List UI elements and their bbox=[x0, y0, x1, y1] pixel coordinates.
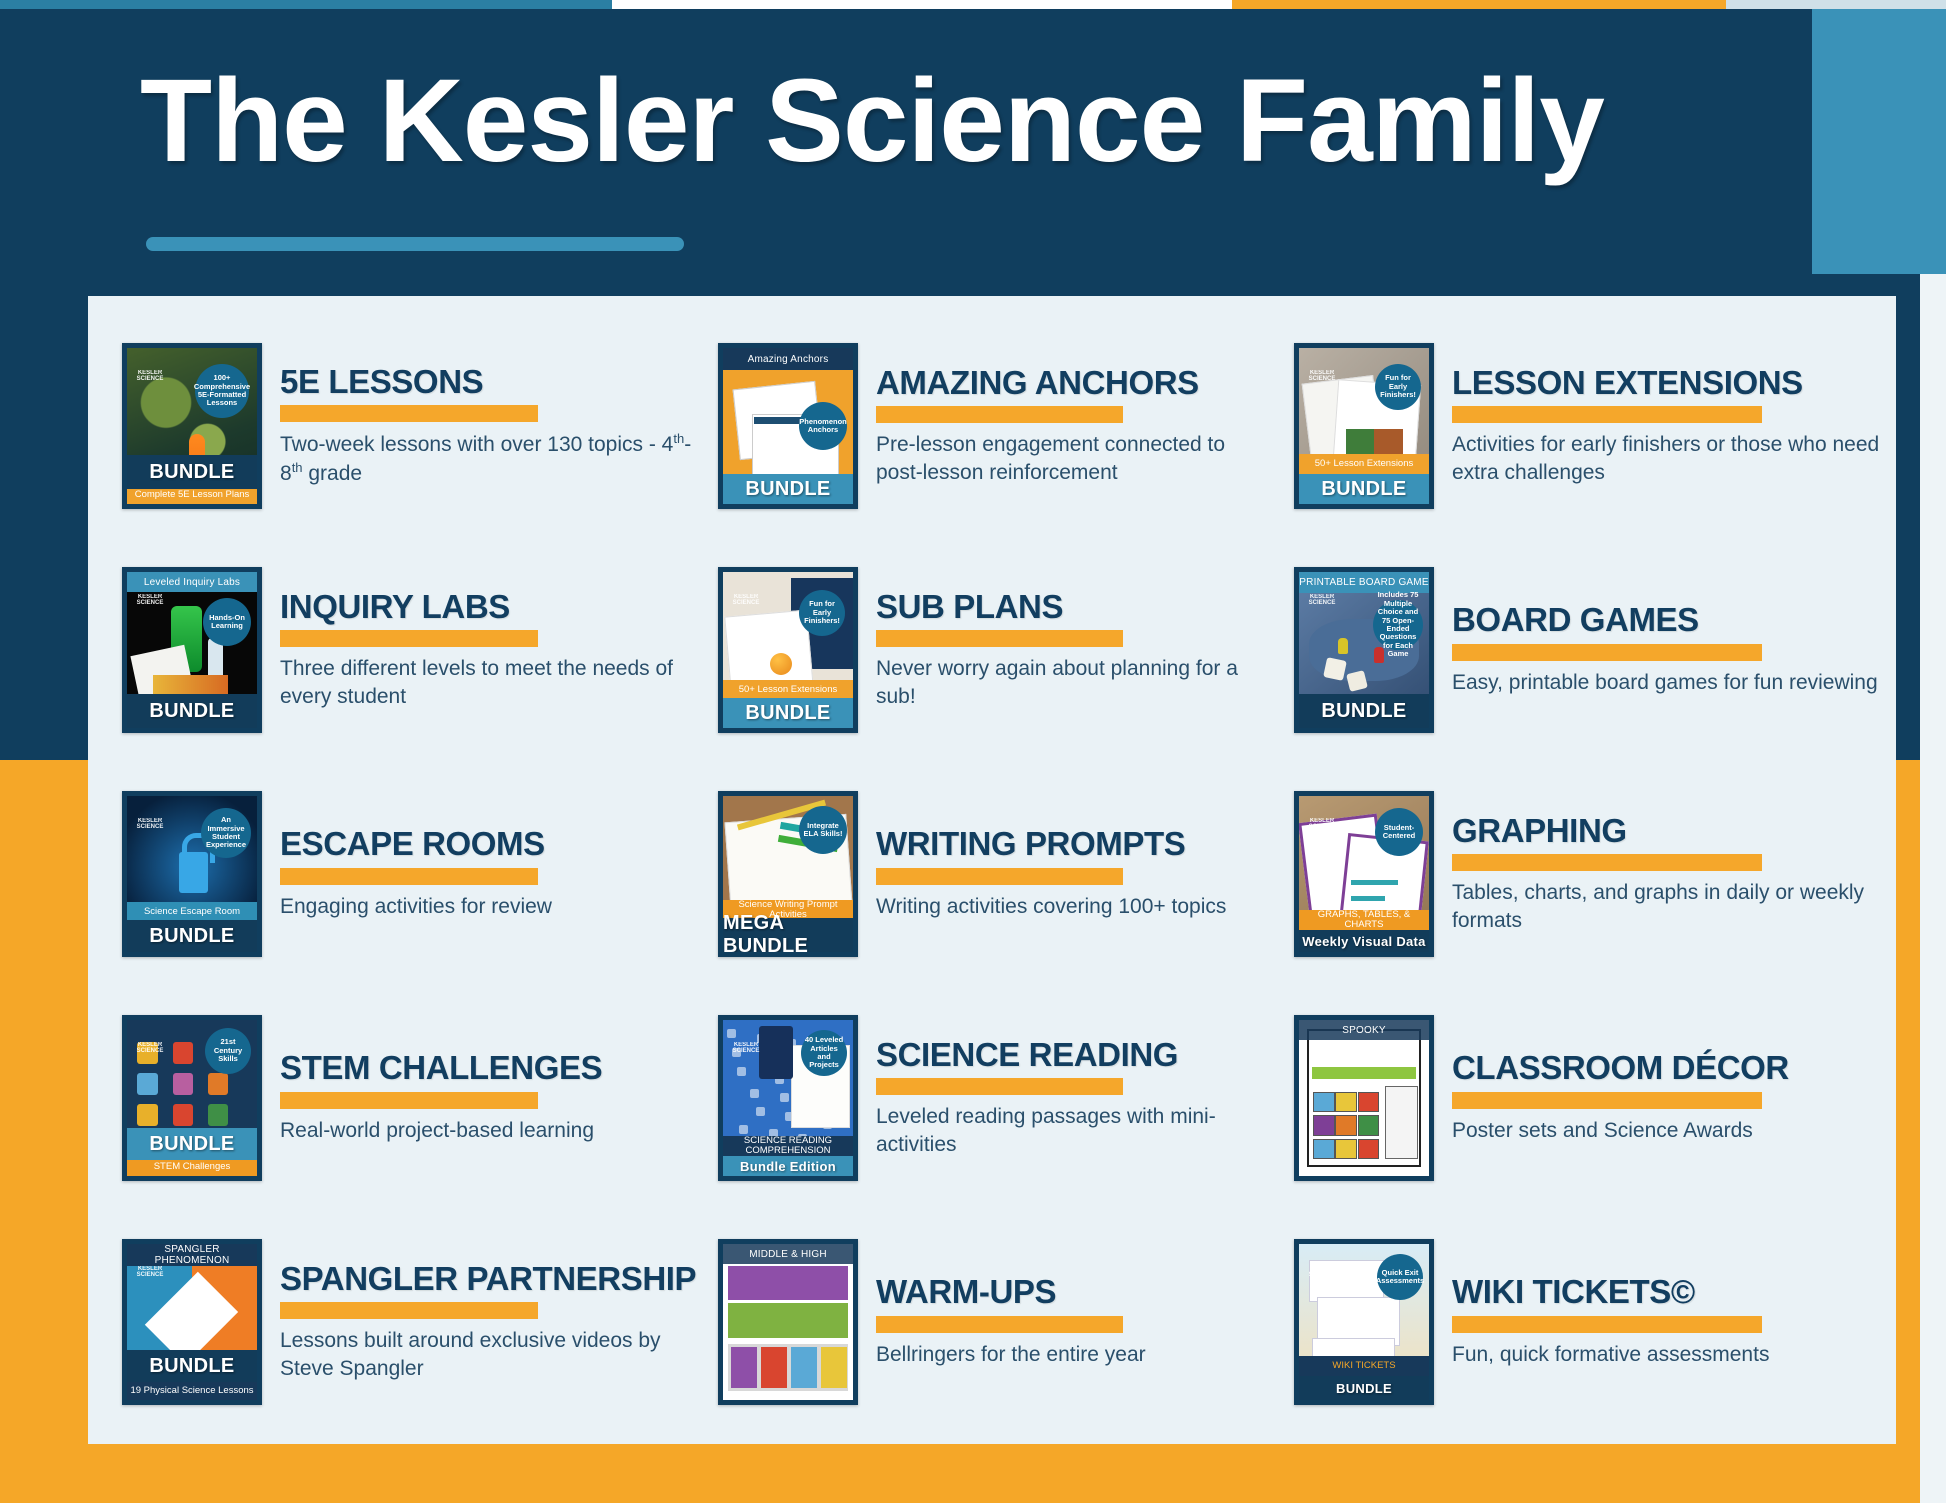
product-description: Tables, charts, and graphs in daily or w… bbox=[1452, 879, 1896, 934]
product-card-stem-challenges[interactable]: 21st Century SkillsKESLER SCIENCESTEM Ch… bbox=[88, 986, 700, 1210]
product-text-block: WRITING PROMPTSWriting activities coveri… bbox=[876, 827, 1270, 920]
kesler-science-logo: KESLER SCIENCE bbox=[133, 818, 167, 836]
poster-page: The Kesler Science Family 100+ Comprehen… bbox=[0, 0, 1946, 1503]
product-text-block: LESSON EXTENSIONSActivities for early fi… bbox=[1452, 366, 1896, 487]
product-thumbnail-writing-prompts[interactable]: Integrate ELA Skills!Science Writing Pro… bbox=[718, 791, 858, 957]
kesler-science-logo: KESLER SCIENCE bbox=[729, 594, 763, 612]
thumbnail-artwork bbox=[1299, 1020, 1429, 1176]
headline-accent-rule bbox=[280, 1092, 538, 1109]
headline-accent-rule bbox=[1452, 644, 1762, 661]
thumbnail-badge: Integrate ELA Skills! bbox=[799, 806, 847, 854]
product-card-warm-ups[interactable]: MIDDLE & HIGHWARM-UPSBellringers for the… bbox=[700, 1210, 1270, 1434]
product-headline: STEM CHALLENGES bbox=[280, 1051, 700, 1085]
product-headline: ESCAPE ROOMS bbox=[280, 827, 700, 861]
top-rule-segment-light bbox=[1726, 0, 1946, 9]
product-thumbnail-board-games[interactable]: PRINTABLE BOARD GAMEIncludes 75 Multiple… bbox=[1294, 567, 1434, 733]
product-thumbnail-inquiry-labs[interactable]: Leveled Inquiry LabsHands-On LearningKES… bbox=[122, 567, 262, 733]
thumbnail-badge: Quick Exit Assessments bbox=[1377, 1254, 1423, 1300]
thumbnail-bundle-label: BUNDLE bbox=[1299, 1376, 1429, 1400]
thumbnail-artwork bbox=[723, 1244, 853, 1400]
thumbnail-bundle-label: Bundle Edition bbox=[723, 1156, 853, 1176]
product-headline: AMAZING ANCHORS bbox=[876, 366, 1270, 400]
kesler-science-logo: KESLER SCIENCE bbox=[1305, 370, 1339, 388]
product-description: Never worry again about planning for a s… bbox=[876, 655, 1270, 710]
thumbnail-bundle-label: BUNDLE bbox=[1299, 694, 1429, 728]
product-headline: 5E LESSONS bbox=[280, 365, 700, 399]
product-headline: SUB PLANS bbox=[876, 590, 1270, 624]
product-description: Three different levels to meet the needs… bbox=[280, 655, 700, 710]
product-description: Poster sets and Science Awards bbox=[1452, 1117, 1896, 1145]
product-text-block: SPANGLER PARTNERSHIPLessons built around… bbox=[280, 1262, 700, 1383]
teal-accent-block bbox=[1812, 9, 1946, 274]
product-description: Writing activities covering 100+ topics bbox=[876, 893, 1270, 921]
product-card-inquiry-labs[interactable]: Leveled Inquiry LabsHands-On LearningKES… bbox=[88, 538, 700, 762]
product-thumbnail-sub-plans[interactable]: Fun for Early Finishers!KESLER SCIENCE50… bbox=[718, 567, 858, 733]
thumbnail-top-label: Leveled Inquiry Labs bbox=[127, 572, 257, 592]
kesler-science-logo: KESLER SCIENCE bbox=[133, 370, 167, 388]
top-rule-segment-orange bbox=[1232, 0, 1726, 9]
product-thumbnail-warm-ups[interactable]: MIDDLE & HIGH bbox=[718, 1239, 858, 1405]
thumbnail-sub-band: GRAPHS, TABLES, & CHARTS bbox=[1299, 910, 1429, 930]
headline-accent-rule bbox=[876, 1316, 1123, 1333]
thumbnail-bundle-label: Weekly Visual Data bbox=[1299, 930, 1429, 952]
thumbnail-sub-band: 19 Physical Science Lessons bbox=[127, 1382, 257, 1400]
product-card-graphing[interactable]: Student-CenteredKESLER SCIENCEGRAPHS, TA… bbox=[1270, 762, 1896, 986]
kesler-science-logo: KESLER SCIENCE bbox=[133, 1266, 167, 1284]
product-text-block: AMAZING ANCHORSPre-lesson engagement con… bbox=[876, 366, 1270, 487]
headline-accent-rule bbox=[1452, 854, 1762, 871]
product-description: Bellringers for the entire year bbox=[876, 1341, 1270, 1369]
thumbnail-badge: 100+ Comprehensive 5E-Formatted Lessons bbox=[195, 364, 249, 418]
thumbnail-bundle-label: BUNDLE bbox=[127, 920, 257, 952]
title-underline bbox=[146, 237, 684, 251]
product-thumbnail-wiki-tickets[interactable]: Quick Exit AssessmentsKESLER SCIENCEWIKI… bbox=[1294, 1239, 1434, 1405]
headline-accent-rule bbox=[1452, 1316, 1762, 1333]
product-headline: SCIENCE READING bbox=[876, 1038, 1270, 1072]
product-headline: GRAPHING bbox=[1452, 814, 1896, 848]
thumbnail-sub-band: Science Escape Room bbox=[127, 902, 257, 922]
product-headline: CLASSROOM DÉCOR bbox=[1452, 1051, 1896, 1085]
thumbnail-badge: Phenomenon Anchors bbox=[799, 402, 847, 450]
product-card-writing-prompts[interactable]: Integrate ELA Skills!Science Writing Pro… bbox=[700, 762, 1270, 986]
product-text-block: GRAPHINGTables, charts, and graphs in da… bbox=[1452, 814, 1896, 935]
thumbnail-top-label: SPANGLER PHENOMENON bbox=[127, 1244, 257, 1266]
thumbnail-badge: An Immersive Student Experience bbox=[201, 808, 251, 858]
product-text-block: INQUIRY LABSThree different levels to me… bbox=[280, 590, 700, 711]
thumbnail-badge: Fun for Early Finishers! bbox=[799, 590, 845, 636]
headline-accent-rule bbox=[876, 630, 1123, 647]
product-text-block: ESCAPE ROOMSEngaging activities for revi… bbox=[280, 827, 700, 920]
product-description: Activities for early finishers or those … bbox=[1452, 431, 1896, 486]
product-card-spangler-partnership[interactable]: SPANGLER PHENOMENONKESLER SCIENCE19 Phys… bbox=[88, 1210, 700, 1434]
product-thumbnail-spangler-partnership[interactable]: SPANGLER PHENOMENONKESLER SCIENCE19 Phys… bbox=[122, 1239, 262, 1405]
thumbnail-bundle-label: BUNDLE bbox=[723, 474, 853, 504]
headline-accent-rule bbox=[1452, 1092, 1762, 1109]
headline-accent-rule bbox=[280, 630, 538, 647]
product-thumbnail-stem-challenges[interactable]: 21st Century SkillsKESLER SCIENCESTEM Ch… bbox=[122, 1015, 262, 1181]
product-text-block: BOARD GAMESEasy, printable board games f… bbox=[1452, 603, 1896, 696]
top-rule-segment-white bbox=[612, 0, 1232, 9]
product-text-block: WIKI TICKETS©Fun, quick formative assess… bbox=[1452, 1275, 1896, 1368]
kesler-science-logo: KESLER SCIENCE bbox=[133, 1042, 167, 1060]
thumbnail-badge: Includes 75 Multiple Choice and 75 Open-… bbox=[1373, 600, 1423, 650]
product-thumbnail-graphing[interactable]: Student-CenteredKESLER SCIENCEGRAPHS, TA… bbox=[1294, 791, 1434, 957]
product-card-5e-lessons[interactable]: 100+ Comprehensive 5E-Formatted LessonsK… bbox=[88, 314, 700, 538]
product-headline: BOARD GAMES bbox=[1452, 603, 1896, 637]
product-text-block: SUB PLANSNever worry again about plannin… bbox=[876, 590, 1270, 711]
thumbnail-sub-band: 50+ Lesson Extensions bbox=[723, 680, 853, 700]
product-card-lesson-extensions[interactable]: Fun for Early Finishers!KESLER SCIENCE50… bbox=[1270, 314, 1896, 538]
thumbnail-badge: 40 Leveled Articles and Projects bbox=[801, 1030, 847, 1076]
headline-accent-rule bbox=[280, 1302, 538, 1319]
thumbnail-sub-band: WIKI TICKETS bbox=[1299, 1356, 1429, 1376]
product-card-sub-plans[interactable]: Fun for Early Finishers!KESLER SCIENCE50… bbox=[700, 538, 1270, 762]
product-description: Lessons built around exclusive videos by… bbox=[280, 1327, 700, 1382]
thumbnail-bundle-label: BUNDLE bbox=[723, 698, 853, 728]
product-description: Two-week lessons with over 130 topics - … bbox=[280, 430, 700, 487]
product-thumbnail-classroom-decor[interactable]: SPOOKY bbox=[1294, 1015, 1434, 1181]
headline-accent-rule bbox=[876, 1078, 1123, 1095]
product-headline: WIKI TICKETS© bbox=[1452, 1275, 1896, 1309]
product-headline: LESSON EXTENSIONS bbox=[1452, 366, 1896, 400]
thumbnail-badge: Student-Centered bbox=[1375, 808, 1423, 856]
kesler-science-logo: KESLER SCIENCE bbox=[729, 1042, 763, 1060]
product-card-classroom-decor[interactable]: SPOOKYCLASSROOM DÉCORPoster sets and Sci… bbox=[1270, 986, 1896, 1210]
product-headline: WRITING PROMPTS bbox=[876, 827, 1270, 861]
thumbnail-sub-band: STEM Challenges bbox=[127, 1158, 257, 1176]
thumbnail-top-label: MIDDLE & HIGH bbox=[723, 1244, 853, 1264]
thumbnail-bundle-label: MEGA BUNDLE bbox=[723, 918, 853, 952]
product-headline: SPANGLER PARTNERSHIP bbox=[280, 1262, 700, 1296]
thumbnail-bundle-label: BUNDLE bbox=[1299, 474, 1429, 504]
product-thumbnail-science-reading[interactable]: 40 Leveled Articles and ProjectsKESLER S… bbox=[718, 1015, 858, 1181]
product-thumbnail-amazing-anchors[interactable]: Amazing AnchorsPhenomenon AnchorsBUNDLE bbox=[718, 343, 858, 509]
product-text-block: 5E LESSONSTwo-week lessons with over 130… bbox=[280, 365, 700, 488]
kesler-science-logo: KESLER SCIENCE bbox=[1305, 1266, 1339, 1284]
product-card-amazing-anchors[interactable]: Amazing AnchorsPhenomenon AnchorsBUNDLEA… bbox=[700, 314, 1270, 538]
page-title: The Kesler Science Family bbox=[140, 62, 1820, 180]
headline-accent-rule bbox=[876, 868, 1123, 885]
product-text-block: SCIENCE READINGLeveled reading passages … bbox=[876, 1038, 1270, 1159]
product-card-board-games[interactable]: PRINTABLE BOARD GAMEIncludes 75 Multiple… bbox=[1270, 538, 1896, 762]
product-description: Easy, printable board games for fun revi… bbox=[1452, 669, 1896, 697]
product-description: Fun, quick formative assessments bbox=[1452, 1341, 1896, 1369]
product-text-block: WARM-UPSBellringers for the entire year bbox=[876, 1275, 1270, 1368]
thumbnail-top-label: Amazing Anchors bbox=[723, 348, 853, 370]
product-thumbnail-escape-rooms[interactable]: An Immersive Student ExperienceKESLER SC… bbox=[122, 791, 262, 957]
product-text-block: CLASSROOM DÉCORPoster sets and Science A… bbox=[1452, 1051, 1896, 1144]
products-panel: 100+ Comprehensive 5E-Formatted LessonsK… bbox=[88, 296, 1896, 1444]
thumbnail-badge: 21st Century Skills bbox=[205, 1028, 251, 1074]
kesler-science-logo: KESLER SCIENCE bbox=[1305, 818, 1339, 836]
top-rule-segment-teal bbox=[0, 0, 612, 9]
thumbnail-sub-band: SCIENCE READING COMPREHENSION bbox=[723, 1136, 853, 1156]
product-card-wiki-tickets[interactable]: Quick Exit AssessmentsKESLER SCIENCEWIKI… bbox=[1270, 1210, 1896, 1434]
product-description: Pre-lesson engagement connected to post-… bbox=[876, 431, 1270, 486]
thumbnail-badge: Hands-On Learning bbox=[203, 598, 251, 646]
thumbnail-bundle-label: BUNDLE bbox=[127, 1350, 257, 1382]
product-thumbnail-lesson-extensions[interactable]: Fun for Early Finishers!KESLER SCIENCE50… bbox=[1294, 343, 1434, 509]
product-card-science-reading[interactable]: 40 Leveled Articles and ProjectsKESLER S… bbox=[700, 986, 1270, 1210]
product-description: Leveled reading passages with mini-activ… bbox=[876, 1103, 1270, 1158]
headline-accent-rule bbox=[280, 405, 538, 422]
product-headline: WARM-UPS bbox=[876, 1275, 1270, 1309]
thumbnail-sub-band: 50+ Lesson Extensions bbox=[1299, 454, 1429, 474]
products-grid: 100+ Comprehensive 5E-Formatted LessonsK… bbox=[88, 296, 1896, 1444]
thumbnail-bundle-label: BUNDLE bbox=[127, 694, 257, 728]
product-card-escape-rooms[interactable]: An Immersive Student ExperienceKESLER SC… bbox=[88, 762, 700, 986]
product-headline: INQUIRY LABS bbox=[280, 590, 700, 624]
product-text-block: STEM CHALLENGESReal-world project-based … bbox=[280, 1051, 700, 1144]
kesler-science-logo: KESLER SCIENCE bbox=[1305, 594, 1339, 612]
product-description: Engaging activities for review bbox=[280, 893, 700, 921]
thumbnail-bundle-label: BUNDLE bbox=[127, 455, 257, 489]
product-thumbnail-5e-lessons[interactable]: 100+ Comprehensive 5E-Formatted LessonsK… bbox=[122, 343, 262, 509]
headline-accent-rule bbox=[1452, 406, 1762, 423]
thumbnail-top-label: SPOOKY bbox=[1299, 1020, 1429, 1040]
kesler-science-logo: KESLER SCIENCE bbox=[133, 594, 167, 612]
thumbnail-badge: Fun for Early Finishers! bbox=[1375, 364, 1421, 410]
headline-accent-rule bbox=[876, 406, 1123, 423]
product-description: Real-world project-based learning bbox=[280, 1117, 700, 1145]
headline-accent-rule bbox=[280, 868, 538, 885]
thumbnail-bundle-label: BUNDLE bbox=[127, 1128, 257, 1160]
